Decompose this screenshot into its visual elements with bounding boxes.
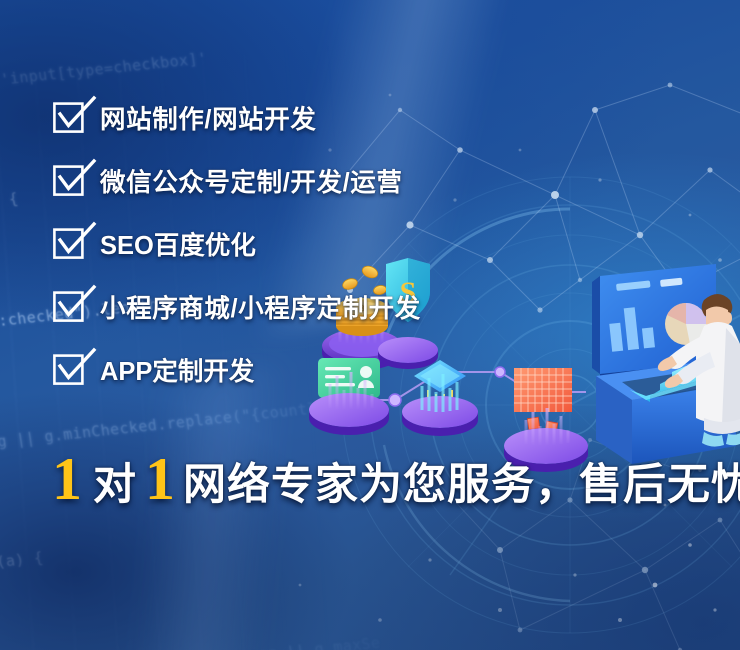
checklist-item-miniprogram[interactable]: 小程序商城/小程序定制开发 — [54, 289, 694, 323]
checklist-item-label: SEO百度优化 — [100, 225, 256, 262]
promo-banner: .querySelectorAll('input[type=checkbox]'… — [0, 0, 740, 650]
checkbox-checked-icon[interactable] — [54, 103, 83, 132]
checklist-item-website[interactable]: 网站制作/网站开发 — [54, 100, 694, 134]
checklist-item-label: 小程序商城/小程序定制开发 — [100, 288, 421, 325]
checklist-item-seo[interactable]: SEO百度优化 — [54, 226, 694, 260]
service-checklist: 网站制作/网站开发 微信公众号定制/开发/运营 SEO百度优化 — [54, 100, 694, 415]
headline-number-first: 1 — [52, 449, 82, 509]
headline-number-second: 1 — [145, 449, 175, 509]
checklist-item-label: 微信公众号定制/开发/运营 — [100, 162, 402, 199]
promo-headline: 1 对 1 网络专家为您服务，售后无忧！ — [52, 449, 740, 509]
headline-middle-word: 对 — [93, 464, 137, 507]
checkbox-checked-icon[interactable] — [54, 166, 83, 195]
checklist-item-app[interactable]: APP定制开发 — [54, 352, 694, 386]
checklist-item-label: APP定制开发 — [100, 351, 254, 388]
checklist-item-label: 网站制作/网站开发 — [100, 99, 317, 136]
checkbox-checked-icon[interactable] — [54, 355, 83, 384]
checklist-item-wechat[interactable]: 微信公众号定制/开发/运营 — [54, 163, 694, 197]
checkbox-checked-icon[interactable] — [54, 229, 83, 258]
checkbox-checked-icon[interactable] — [54, 292, 83, 321]
headline-tail-text: 网络专家为您服务，售后无忧！ — [183, 464, 740, 507]
